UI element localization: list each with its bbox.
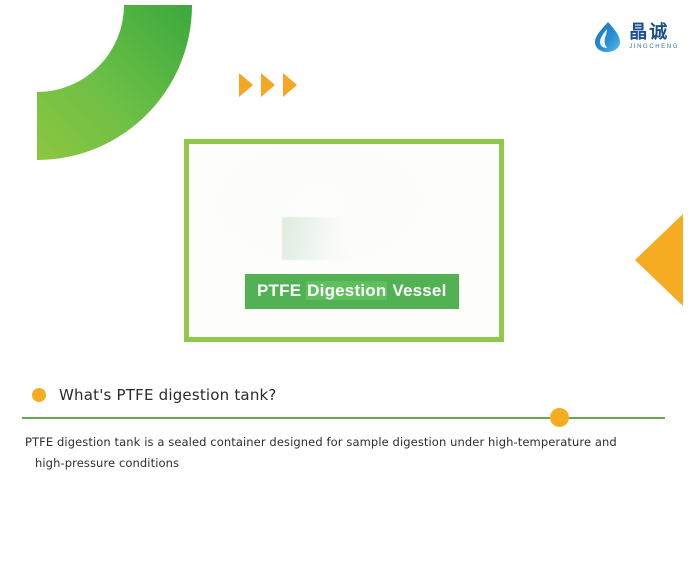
chevron-right-icon xyxy=(283,73,297,97)
brand-logo: 晶诚 JINGCHENG xyxy=(593,21,679,53)
hero-caption-highlight: Digestion xyxy=(306,281,387,300)
slide-canvas: 晶诚 JINGCHENG PTFE Digestion Vessel What'… xyxy=(0,0,688,576)
green-arc-decoration xyxy=(0,0,192,160)
body-line-1: PTFE digestion tank is a sealed containe… xyxy=(25,435,617,449)
divider-accent-dot-icon xyxy=(550,408,569,427)
chevron-right-icon xyxy=(261,73,275,97)
hero-caption-prefix: PTFE xyxy=(257,281,306,300)
right-edge-triangle-decoration xyxy=(635,214,683,306)
water-droplet-icon xyxy=(593,21,623,53)
brand-name-latin: JINGCHENG xyxy=(629,44,679,50)
hero-caption-suffix: Vessel xyxy=(387,281,446,300)
chevron-group xyxy=(239,73,297,97)
brand-name-cn: 晶诚 xyxy=(629,24,679,42)
hero-image-frame: PTFE Digestion Vessel xyxy=(184,139,504,342)
page-title: What's PTFE digestion tank? xyxy=(59,386,277,404)
section-body-text: PTFE digestion tank is a sealed containe… xyxy=(0,432,688,475)
chevron-right-icon xyxy=(239,73,253,97)
content-section: What's PTFE digestion tank? PTFE digesti… xyxy=(0,386,688,475)
section-heading-row: What's PTFE digestion tank? xyxy=(0,386,688,404)
bullet-dot-icon xyxy=(32,388,46,402)
body-line-2: high-pressure conditions xyxy=(25,453,658,474)
hero-caption-badge: PTFE Digestion Vessel xyxy=(245,274,459,309)
brand-logo-text: 晶诚 JINGCHENG xyxy=(629,24,679,50)
section-divider xyxy=(0,417,688,419)
